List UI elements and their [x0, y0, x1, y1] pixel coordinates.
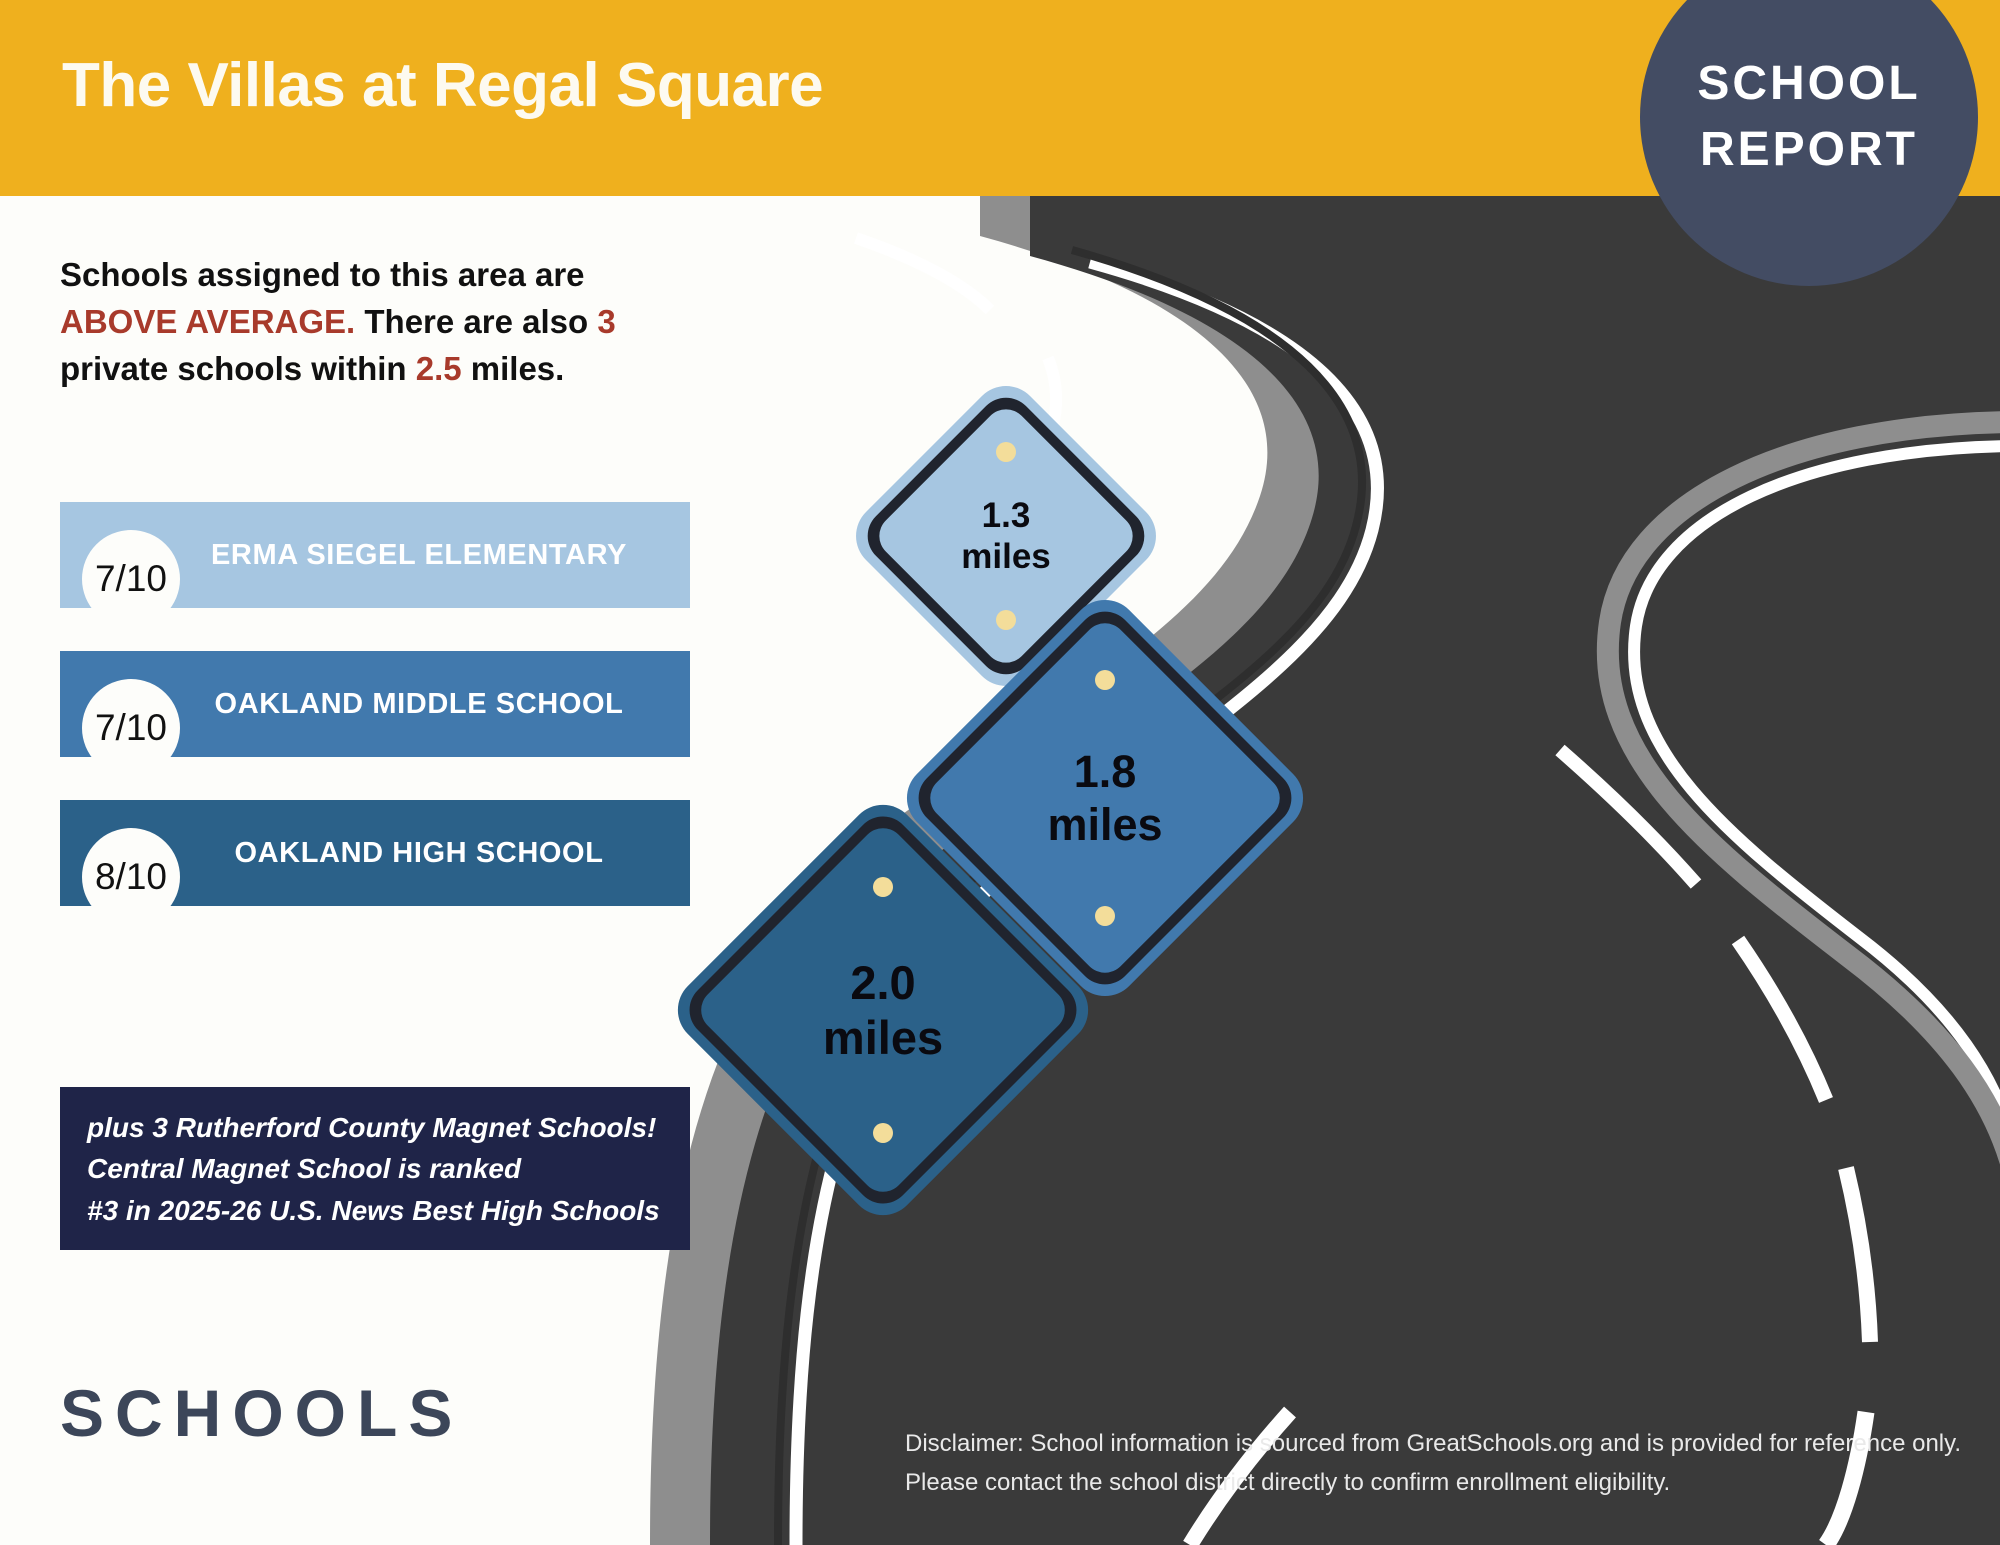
sign-distance-unit: miles — [823, 1010, 943, 1065]
sign-distance-value: 1.8 — [1074, 745, 1137, 798]
score-badge: 8/10 — [82, 828, 180, 926]
sign-distance-unit: miles — [1047, 798, 1162, 851]
intro-text-part-4: miles. — [462, 350, 565, 387]
intro-radius: 2.5 — [416, 350, 462, 387]
intro-paragraph: Schools assigned to this area are ABOVE … — [60, 252, 700, 393]
badge-line-school: SCHOOL — [1697, 60, 1920, 108]
disclaimer-text: Disclaimer: School information is source… — [905, 1425, 1985, 1503]
rivet-icon — [1095, 906, 1115, 926]
sign-text: 2.0 miles — [728, 855, 1038, 1165]
sign-distance-unit: miles — [961, 536, 1051, 577]
school-list: 7/10 ERMA SIEGEL ELEMENTARY 7/10 OAKLAND… — [60, 502, 690, 949]
intro-rating-highlight: ABOVE AVERAGE. — [60, 303, 355, 340]
score-badge: 7/10 — [82, 530, 180, 628]
magnet-line-2: Central Magnet School is ranked — [87, 1148, 690, 1189]
magnet-line-3: #3 in 2025-26 U.S. News Best High School… — [87, 1190, 690, 1231]
distance-sign-high: 2.0 miles — [728, 855, 1038, 1165]
magnet-schools-note: plus 3 Rutherford County Magnet Schools!… — [60, 1087, 690, 1250]
rivet-icon — [996, 610, 1016, 630]
intro-text-part-3: private schools within — [60, 350, 416, 387]
score-badge: 7/10 — [82, 679, 180, 777]
school-report-infographic: The Villas at Regal Square SCHOOL REPORT… — [0, 0, 2000, 1545]
intro-text-part-2: There are also — [355, 303, 597, 340]
intro-private-count: 3 — [597, 303, 615, 340]
rivet-icon — [1095, 670, 1115, 690]
rivet-icon — [873, 877, 893, 897]
page-title: The Villas at Regal Square — [62, 50, 823, 121]
rivet-icon — [996, 442, 1016, 462]
school-row-high[interactable]: 8/10 OAKLAND HIGH SCHOOL — [60, 800, 690, 906]
rivet-icon — [873, 1123, 893, 1143]
intro-text-part-1: Schools assigned to this area are — [60, 256, 585, 293]
school-row-elementary[interactable]: 7/10 ERMA SIEGEL ELEMENTARY — [60, 502, 690, 608]
badge-line-report: REPORT — [1700, 126, 1918, 174]
sign-distance-value: 1.3 — [982, 495, 1031, 536]
magnet-line-1: plus 3 Rutherford County Magnet Schools! — [87, 1107, 690, 1148]
sign-distance-value: 2.0 — [850, 955, 915, 1010]
section-title-schools: SCHOOLS — [60, 1375, 463, 1451]
school-row-middle[interactable]: 7/10 OAKLAND MIDDLE SCHOOL — [60, 651, 690, 757]
